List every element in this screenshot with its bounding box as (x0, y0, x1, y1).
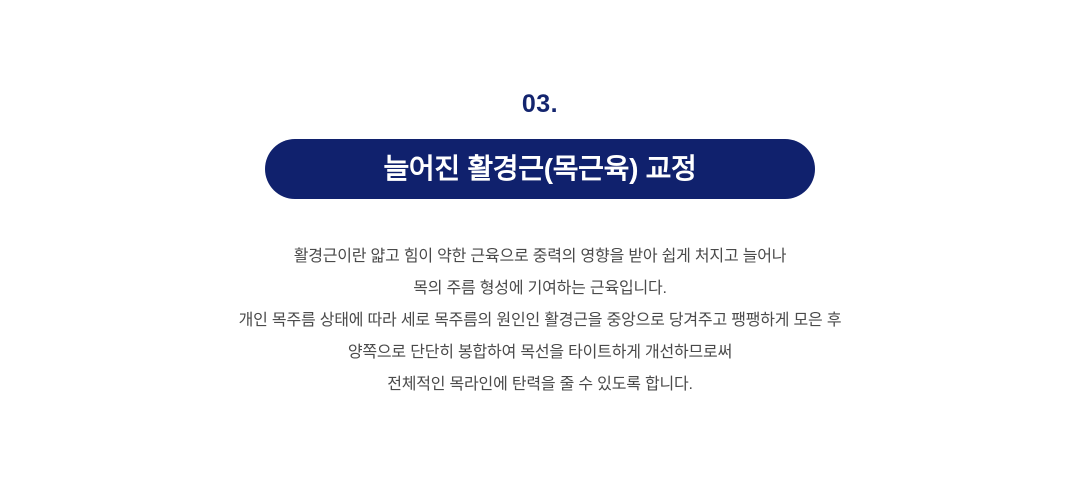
description-line: 전체적인 목라인에 탄력을 줄 수 있도록 합니다. (60, 369, 1020, 401)
description-line: 활경근이란 얇고 힘이 약한 근육으로 중력의 영향을 받아 쉽게 처지고 늘어… (60, 241, 1020, 273)
step-number: 03. (522, 92, 558, 117)
description-line: 양쪽으로 단단히 봉합하여 목선을 타이트하게 개선하므로써 (60, 337, 1020, 369)
section-title: 늘어진 활경근(목근육) 교정 (383, 155, 696, 183)
content-section: 03. 늘어진 활경근(목근육) 교정 활경근이란 얇고 힘이 약한 근육으로 … (0, 0, 1080, 498)
description-line: 목의 주름 형성에 기여하는 근육입니다. (60, 273, 1020, 305)
description-line: 개인 목주름 상태에 따라 세로 목주름의 원인인 활경근을 중앙으로 당겨주고… (60, 305, 1020, 337)
title-banner: 늘어진 활경근(목근육) 교정 (265, 139, 815, 199)
description-block: 활경근이란 얇고 힘이 약한 근육으로 중력의 영향을 받아 쉽게 처지고 늘어… (60, 241, 1020, 401)
